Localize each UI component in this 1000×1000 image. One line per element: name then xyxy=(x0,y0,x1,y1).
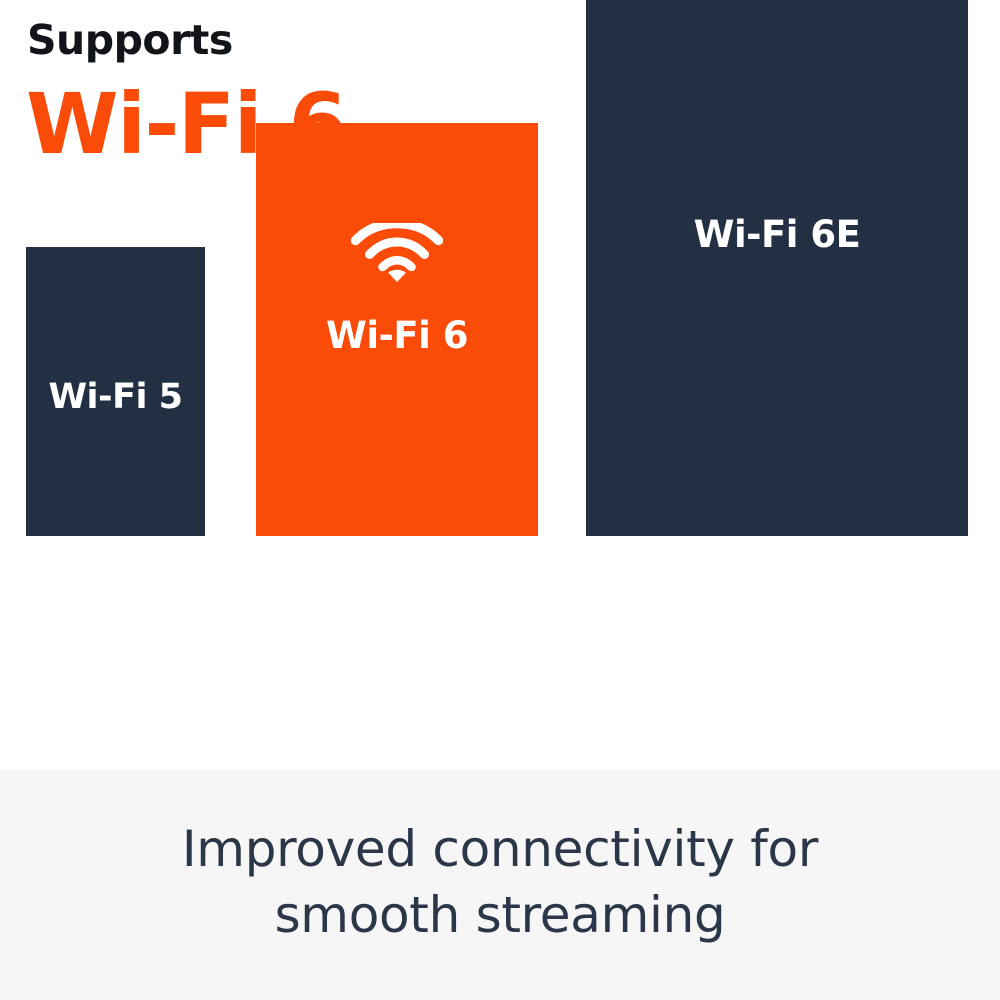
feature-card: Supports Wi-Fi 6 Wi-Fi 5 Wi-Fi 6 Wi-Fi 6… xyxy=(0,0,1000,1000)
wifi-icon xyxy=(351,223,443,283)
bar-wifi-5: Wi-Fi 5 xyxy=(26,247,205,536)
caption-line-1: Improved connectivity for xyxy=(70,816,930,882)
bar-chart: Wi-Fi 5 Wi-Fi 6 Wi-Fi 6E xyxy=(0,0,1000,770)
caption: Improved connectivity for smooth streami… xyxy=(70,816,930,954)
caption-line-2: smooth streaming xyxy=(70,882,930,948)
bar-wifi-6: Wi-Fi 6 xyxy=(256,123,538,536)
bar-label-wifi-6: Wi-Fi 6 xyxy=(256,314,538,357)
bar-wifi-6e: Wi-Fi 6E xyxy=(586,0,968,536)
caption-band: Improved connectivity for smooth streami… xyxy=(0,770,1000,1000)
bar-label-wifi-5: Wi-Fi 5 xyxy=(26,377,205,417)
bar-label-wifi-6e: Wi-Fi 6E xyxy=(586,213,968,256)
